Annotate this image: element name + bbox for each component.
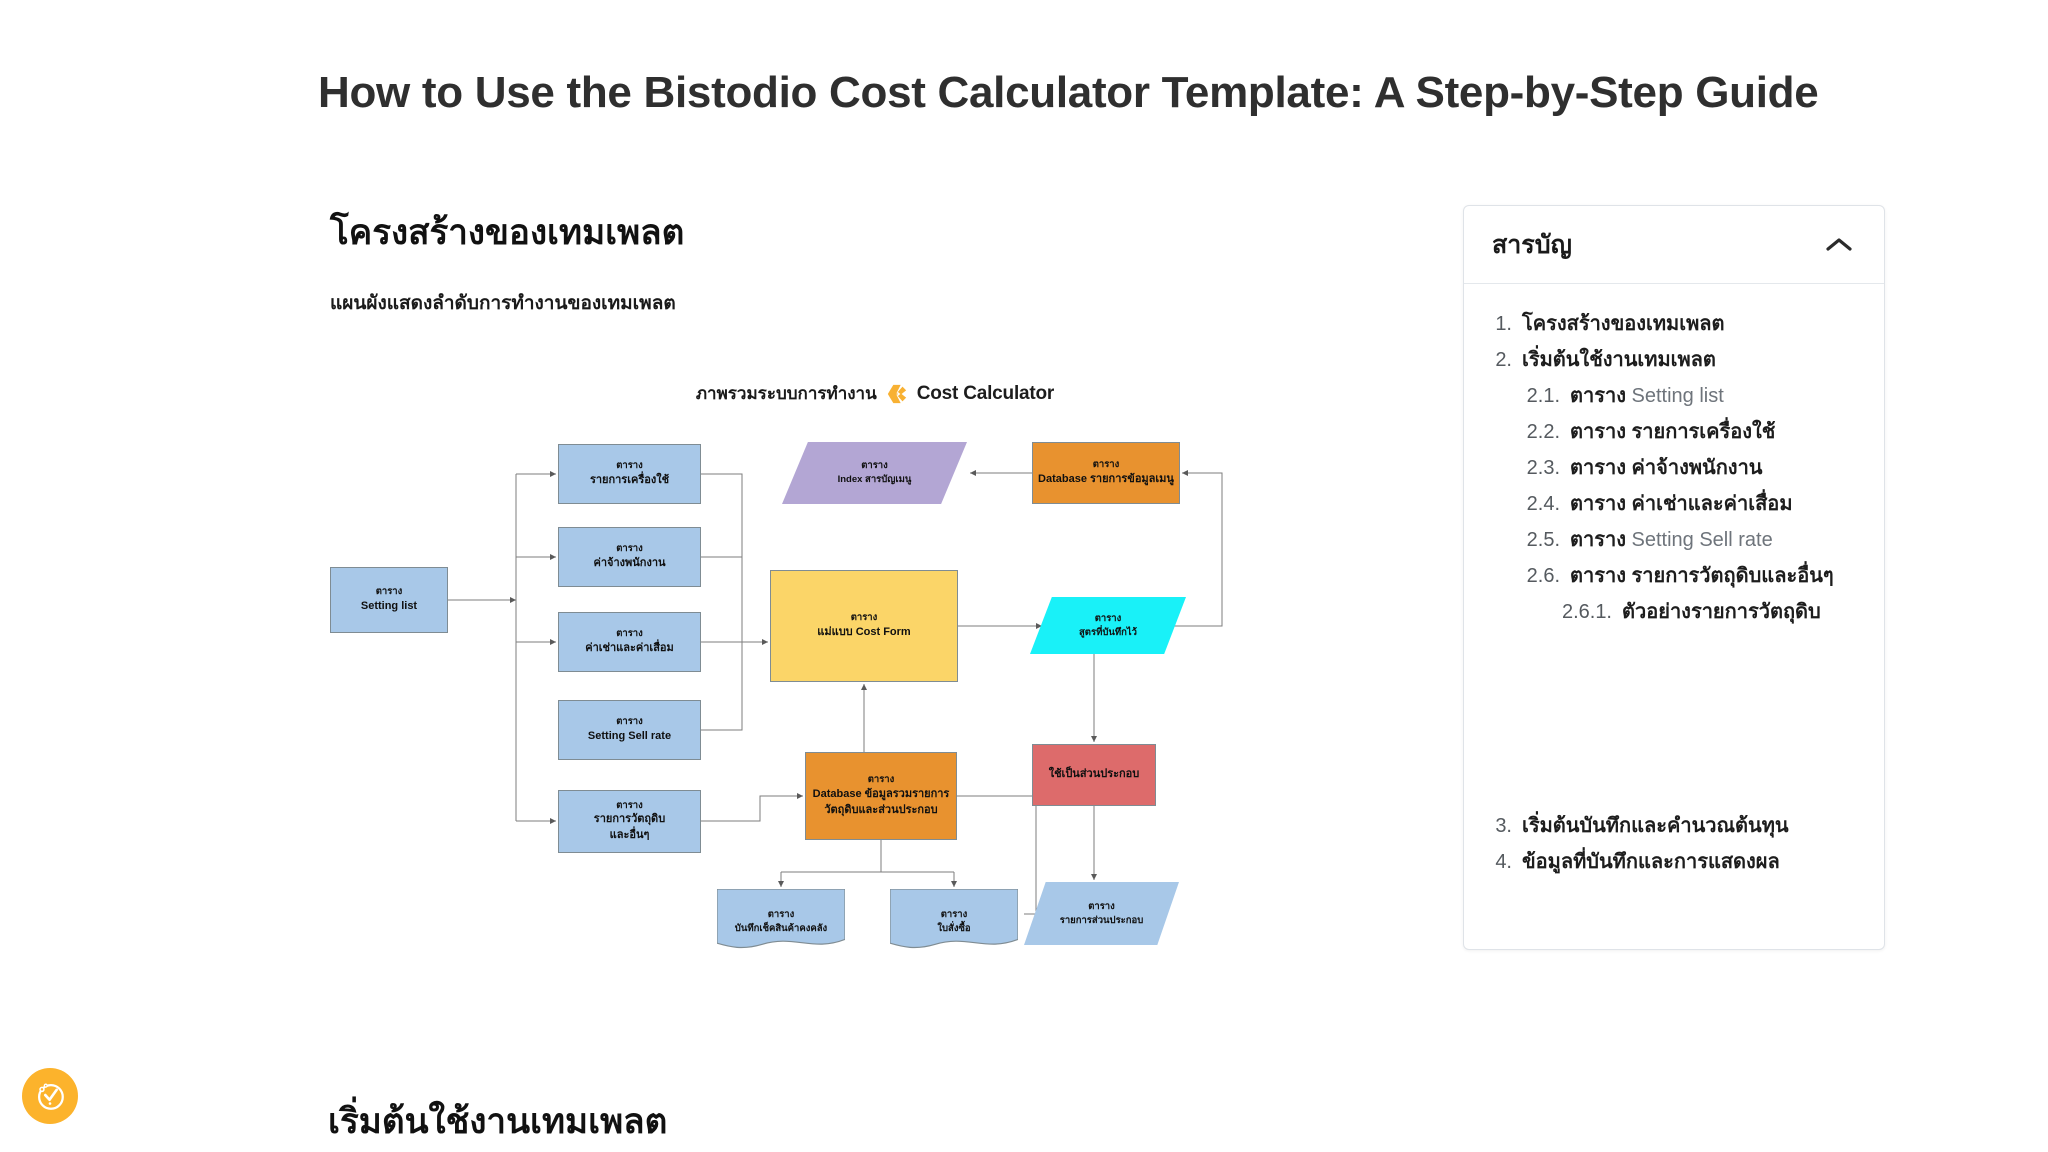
toc-item[interactable]: 2.3.ตาราง ค่าจ้างพนักงาน [1478,450,1870,486]
toc-item[interactable]: 3.เริ่มต้นบันทึกและคำนวณต้นทุน [1478,808,1870,844]
flow-node-label-main: Database ข้อมูลรวมรายการ [813,787,950,803]
flow-node-label-top: ตาราง [616,459,643,473]
flow-node-label-main: ใช้เป็นส่วนประกอบ [1049,767,1140,783]
flow-node-material_list: ตารางรายการวัตถุดิบและอื่นๆ [558,790,701,853]
toc-header: สารบัญ [1464,206,1884,284]
flow-node-label-main: Setting Sell rate [588,729,671,745]
content-column: โครงสร้างของเทมเพลต แผนผังแสดงลำดับการทำ… [330,210,1420,318]
flow-node-label-top: ตาราง [616,715,643,729]
table-of-contents-panel: สารบัญ 1.โครงสร้างของเทมเพลต2.เริ่มต้นใช… [1463,205,1885,950]
toc-title: สารบัญ [1492,225,1572,265]
toc-item[interactable]: 2.6.ตาราง รายการวัตถุดิบและอื่นๆ [1478,558,1870,594]
toc-item[interactable]: 2.1.ตาราง Setting list [1478,378,1870,414]
flow-node-labels: ตารางรายการส่วนประกอบ [1060,900,1144,928]
flow-node-label-main: ใบสั่งซื้อ [890,922,1018,936]
toc-item-label-latin: Setting list [1632,385,1724,407]
flow-node-labels: ตารางสูตรที่บันทึกไว้ [1079,612,1137,640]
flow-node-label-main: และอื่นๆ [610,828,650,844]
flow-node-labels: ตารางIndex สารบัญเมนู [838,459,912,487]
flow-node-label-main: รายการเครื่องใช้ [590,473,669,489]
diagram-caption: ภาพรวมระบบการทำงาน [696,380,877,407]
page-root: How to Use the Bistodio Cost Calculator … [0,0,2048,1152]
toc-item-label: ตาราง Setting Sell rate [1570,530,1773,550]
flow-node-label-top: ตาราง [376,585,403,599]
toc-item[interactable]: 4.ข้อมูลที่บันทึกและการแสดงผล [1478,844,1870,880]
diagram-caption-row: ภาพรวมระบบการทำงาน Cost Calculator [330,380,1420,407]
toc-item[interactable]: 2.4.ตาราง ค่าเช่าและค่าเสื่อม [1478,486,1870,522]
flow-node-staff_wage: ตารางค่าจ้างพนักงาน [558,527,701,587]
toc-item-label: ตัวอย่างรายการวัตถุดิบ [1622,602,1821,622]
flow-node-labels: ตารางใบสั่งซื้อ [890,908,1018,936]
toc-item-label: ตาราง ค่าจ้างพนักงาน [1570,458,1762,478]
flow-node-label-main: แม่แบบ Cost Form [817,625,910,641]
flow-node-setting_list: ตารางSetting list [330,567,448,633]
flow-node-label-main: สูตรที่บันทึกไว้ [1079,626,1137,640]
toc-item-label-latin: Setting Sell rate [1632,529,1773,551]
flow-node-equipment_list: ตารางรายการเครื่องใช้ [558,444,701,504]
section-subtitle: แผนผังแสดงลำดับการทำงานของเทมเพลต [330,288,1420,318]
flow-node-label-main: Setting list [361,599,417,615]
workflow-diagram: ภาพรวมระบบการทำงาน Cost Calculator [330,380,1420,1000]
toc-item-number: 4. [1490,852,1512,872]
flow-node-label-main: บันทึกเช็คสินค้าคงคลัง [717,922,845,936]
flow-node-db_material_sum: ตารางDatabase ข้อมูลรวมรายการวัตถุดิบและ… [805,752,957,840]
toc-item-label: เริ่มต้นบันทึกและคำนวณต้นทุน [1522,816,1789,836]
toc-item[interactable]: 2.5.ตาราง Setting Sell rate [1478,522,1870,558]
flow-node-label-top: ตาราง [890,908,1018,922]
bottom-section-heading: เริ่มต้นใช้งานเทมเพลต [328,1094,667,1149]
toc-item-number: 1. [1490,314,1512,334]
flow-node-rent_depr: ตารางค่าเช่าและค่าเสื่อม [558,612,701,672]
flow-node-label-main: ค่าจ้างพนักงาน [593,556,665,572]
toc-item-list: 1.โครงสร้างของเทมเพลต2.เริ่มต้นใช้งานเทม… [1464,284,1884,630]
flow-node-label-main: รายการวัตถุดิบ [594,812,665,828]
flow-node-label-top: ตาราง [851,611,878,625]
bistodio-badge-icon[interactable] [22,1068,78,1124]
toc-item[interactable]: 1.โครงสร้างของเทมเพลต [1478,306,1870,342]
toc-item-label: ตาราง รายการเครื่องใช้ [1570,422,1775,442]
flow-node-label-main: วัตถุดิบและส่วนประกอบ [824,803,937,819]
toc-item[interactable]: 2.เริ่มต้นใช้งานเทมเพลต [1478,342,1870,378]
flow-node-label-top: ตาราง [616,627,643,641]
flow-node-index_menu: ตารางIndex สารบัญเมนู [782,442,967,504]
flow-node-setting_sell: ตารางSetting Sell rate [558,700,701,760]
toc-item-number: 2.2. [1518,422,1560,442]
flow-node-cost_form: ตารางแม่แบบ Cost Form [770,570,958,682]
flow-node-label-top: ตาราง [1093,458,1120,472]
toc-item-number: 3. [1490,816,1512,836]
flow-node-label-top: ตาราง [717,908,845,922]
toc-item-number: 2.6.1. [1550,602,1612,622]
flow-node-db_menu_data: ตารางDatabase รายการข้อมูลเมนู [1032,442,1180,504]
page-title: How to Use the Bistodio Cost Calculator … [318,67,1918,120]
toc-item-number: 2.3. [1518,458,1560,478]
flow-node-label-top: ตาราง [838,459,912,473]
toc-item[interactable]: 2.6.1.ตัวอย่างรายการวัตถุดิบ [1478,594,1870,630]
toc-item-label: ตาราง รายการวัตถุดิบและอื่นๆ [1570,566,1834,586]
toc-item-list-tail: 3.เริ่มต้นบันทึกและคำนวณต้นทุน4.ข้อมูลที… [1464,808,1884,880]
section-heading: โครงสร้างของเทมเพลต [330,210,1420,256]
flow-node-label-top: ตาราง [616,542,643,556]
toc-item-number: 2.6. [1518,566,1560,586]
toc-item-number: 2.5. [1518,530,1560,550]
bistodio-b-logo-icon [886,383,908,405]
toc-item-label: โครงสร้างของเทมเพลต [1522,314,1725,334]
flow-node-labels: ตารางบันทึกเช็คสินค้าคงคลัง [717,908,845,936]
flow-node-component_list: ตารางรายการส่วนประกอบ [1024,882,1179,945]
flow-node-use_component: ใช้เป็นส่วนประกอบ [1032,744,1156,806]
flow-node-stock_record: ตารางบันทึกเช็คสินค้าคงคลัง [717,889,845,952]
flow-node-label-top: ตาราง [616,799,643,813]
toc-item-label: ตาราง ค่าเช่าและค่าเสื่อม [1570,494,1793,514]
flow-node-label-main: รายการส่วนประกอบ [1060,914,1144,928]
toc-item-label: ข้อมูลที่บันทึกและการแสดงผล [1522,852,1780,872]
diagram-brand-name: Cost Calculator [917,383,1054,405]
toc-item-label: ตาราง Setting list [1570,386,1724,406]
flow-node-label-top: ตาราง [868,773,895,787]
toc-spacer [1464,630,1884,808]
toc-item-number: 2.4. [1518,494,1560,514]
flow-canvas: ตารางSetting listตารางรายการเครื่องใช้ตา… [330,422,1420,997]
toc-item-number: 2. [1490,350,1512,370]
toc-item-label: เริ่มต้นใช้งานเทมเพลต [1522,350,1716,370]
toc-item-number: 2.1. [1518,386,1560,406]
flow-edges [330,422,1420,997]
flow-node-label-top: ตาราง [1079,612,1137,626]
flow-node-label-main: Index สารบัญเมนู [838,473,912,487]
flow-node-label-main: ค่าเช่าและค่าเสื่อม [585,641,674,657]
toc-item[interactable]: 2.2.ตาราง รายการเครื่องใช้ [1478,414,1870,450]
flow-node-saved_formula: ตารางสูตรที่บันทึกไว้ [1030,597,1186,654]
flow-node-purchase_order: ตารางใบสั่งซื้อ [890,889,1018,952]
flow-node-label-top: ตาราง [1060,900,1144,914]
flow-node-label-main: Database รายการข้อมูลเมนู [1038,472,1174,488]
chevron-up-icon[interactable] [1824,236,1854,254]
